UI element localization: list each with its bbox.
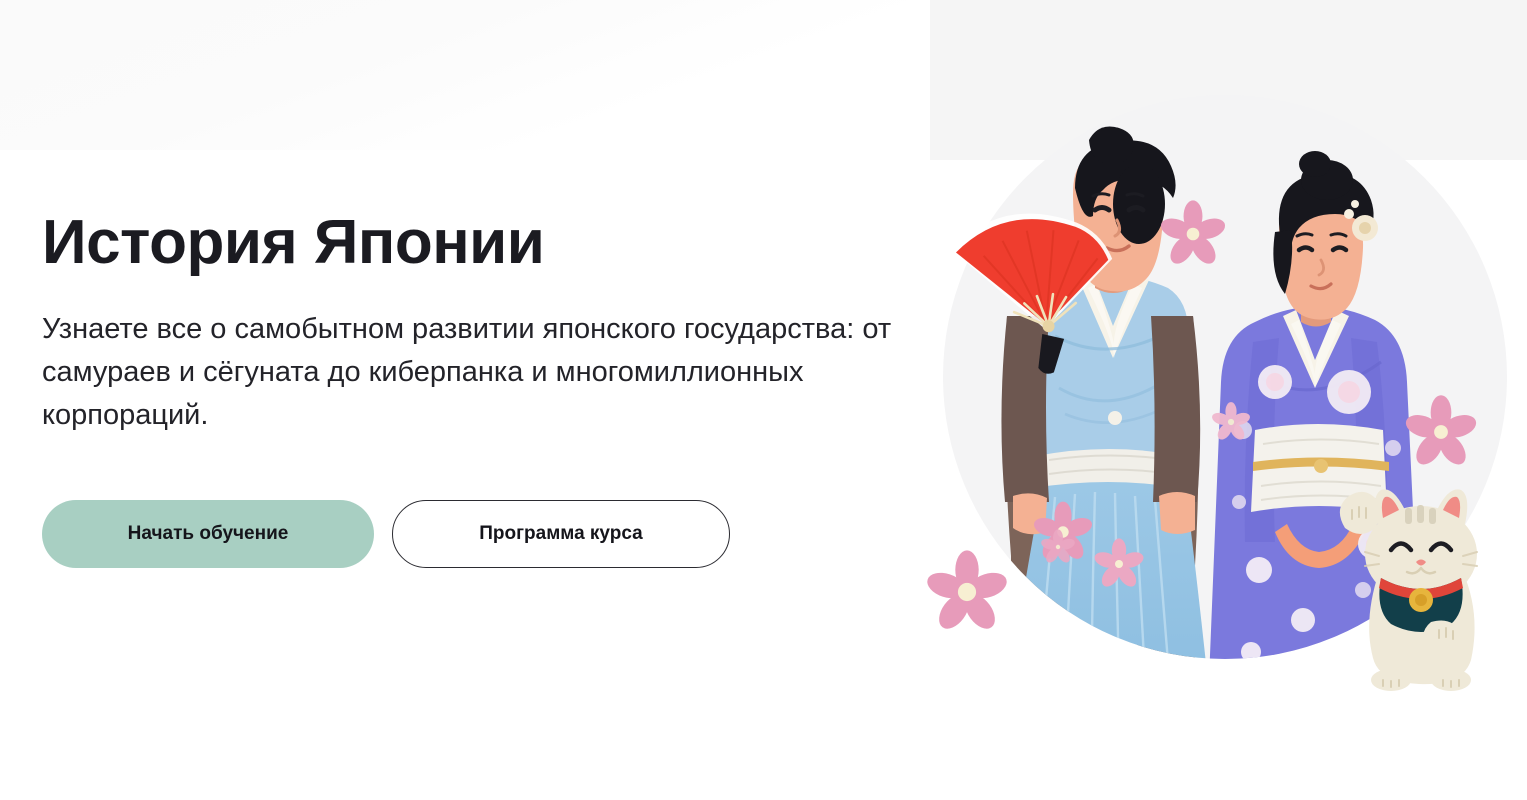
hero-illustration <box>903 92 1527 692</box>
cta-button-row: Начать обучение Программа курса <box>42 500 730 568</box>
japan-couple-illustration <box>903 92 1527 692</box>
page-title: История Японии <box>42 210 942 275</box>
hero-subtitle: Узнаете все о самобытном развитии японск… <box>42 275 942 437</box>
man-right-hand <box>1159 492 1195 534</box>
start-learning-button[interactable]: Начать обучение <box>42 500 374 568</box>
course-program-button[interactable]: Программа курса <box>392 500 730 568</box>
hero-text-block: История Японии Узнаете все о самобытном … <box>42 210 942 437</box>
landing-page: История Японии Узнаете все о самобытном … <box>0 0 1527 800</box>
